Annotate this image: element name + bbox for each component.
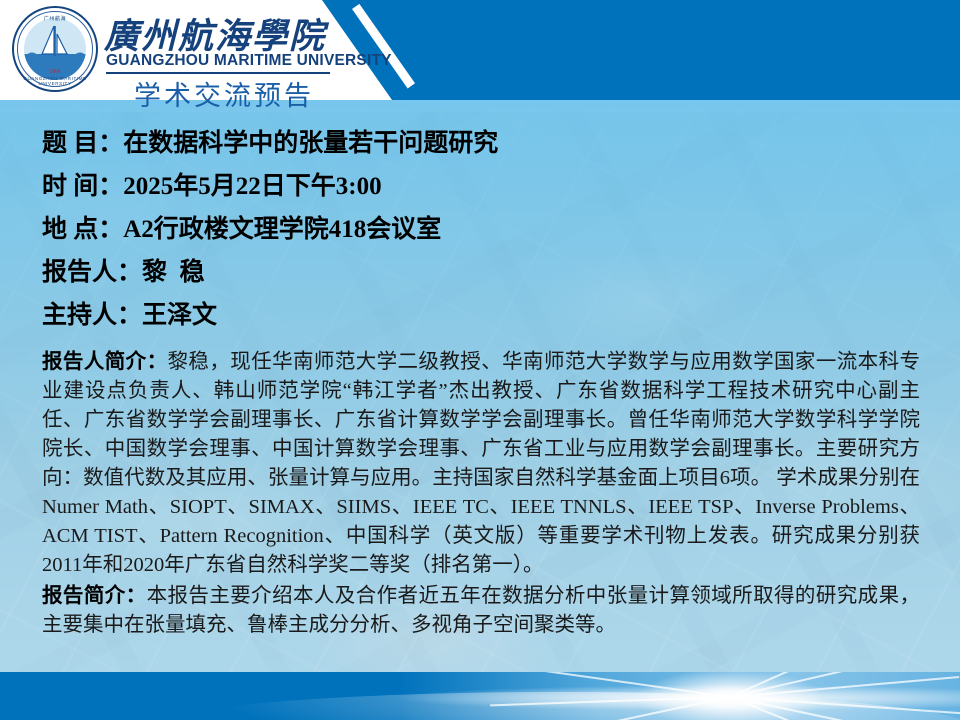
abstract-body: 本报告主要介绍本人及合作者近五年在数据分析中张量计算领域所取得的研究成果，主要集…	[42, 585, 920, 636]
speaker-bio-paragraph: 报告人简介：黎稳，现任华南师范大学二级教授、华南师范大学数学与应用数学国家一流本…	[42, 348, 920, 580]
info-line-host: 主持人：王泽文	[42, 294, 922, 337]
info-line-location: 地 点：A2行政楼文理学院418会议室	[42, 208, 922, 251]
seal-text-top: 广州航海	[12, 15, 98, 22]
info-line-title: 题 目：在数据科学中的张量若干问题研究	[42, 122, 922, 165]
info-line-time: 时 间：2025年5月22日下午3:00	[42, 165, 922, 208]
footer-bar	[0, 672, 960, 720]
seminar-info-block: 题 目：在数据科学中的张量若干问题研究 时 间：2025年5月22日下午3:00…	[42, 122, 922, 337]
abstract-paragraph: 报告简介：本报告主要介绍本人及合作者近五年在数据分析中张量计算领域所取得的研究成…	[42, 582, 920, 640]
abstract-label: 报告简介：	[42, 585, 147, 607]
seal-text-bottom: GUANGZHOU MARITIME UNIVERSITY	[12, 76, 98, 86]
university-seal-logo: 广州航海 1964 GUANGZHOU MARITIME UNIVERSITY	[12, 6, 98, 92]
university-name-en: GUANGZHOU MARITIME UNIVERSITY	[106, 52, 392, 70]
speaker-bio-label: 报告人简介：	[42, 351, 168, 373]
seal-year: 1964	[12, 69, 98, 75]
info-line-speaker: 报告人：黎 稳	[42, 251, 922, 294]
seminar-poster: 广州航海 1964 GUANGZHOU MARITIME UNIVERSITY …	[0, 0, 960, 720]
speaker-bio-body: 黎稳，现任华南师范大学二级教授、华南师范大学数学与应用数学国家一流本科专业建设点…	[42, 351, 920, 576]
banner-subtitle: 学术交流预告	[112, 74, 336, 113]
